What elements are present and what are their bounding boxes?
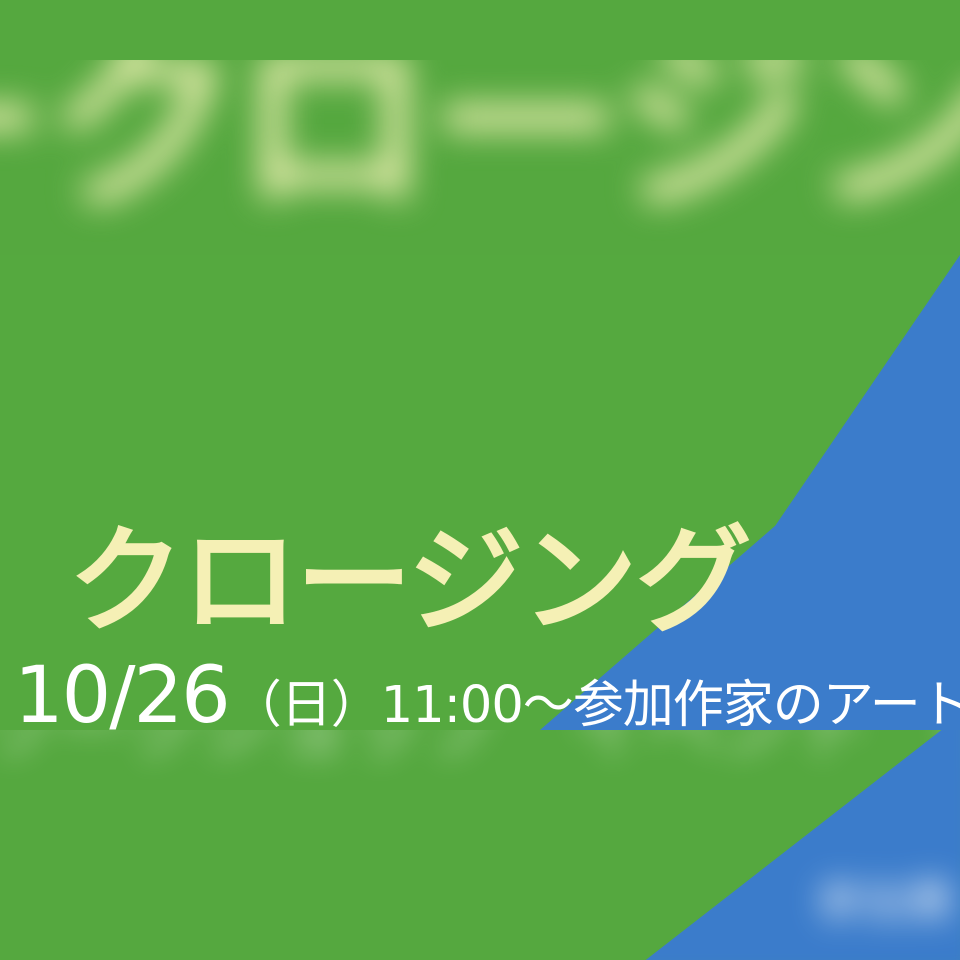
schedule-line: 10/26 （日）11:00〜参加作家のアートツアー — [14, 657, 960, 730]
page-title: クロージング — [68, 523, 750, 641]
blurred-title-layer: ークロージング — [0, 60, 960, 260]
blurred-blue-corner: 参加費 — [630, 730, 960, 960]
blurred-corner-text: 参加費 — [816, 866, 954, 932]
schedule-detail: （日）11:00〜参加作家のアートツアー — [231, 676, 960, 730]
blurred-title-text: ークロージング — [0, 60, 960, 226]
focused-content-band: クロージング 10/26 （日）11:00〜参加作家のアートツアー 「森・アート… — [0, 255, 960, 730]
schedule-date: 10/26 — [14, 657, 229, 730]
blurred-bottom-layer: ワークショップ イベント 秋の里山アートフェスティバル 参加費 — [0, 730, 960, 960]
poster-canvas: ークロージング クロージング 10/26 （日）11:00〜参加作家のアートツア… — [0, 0, 960, 960]
